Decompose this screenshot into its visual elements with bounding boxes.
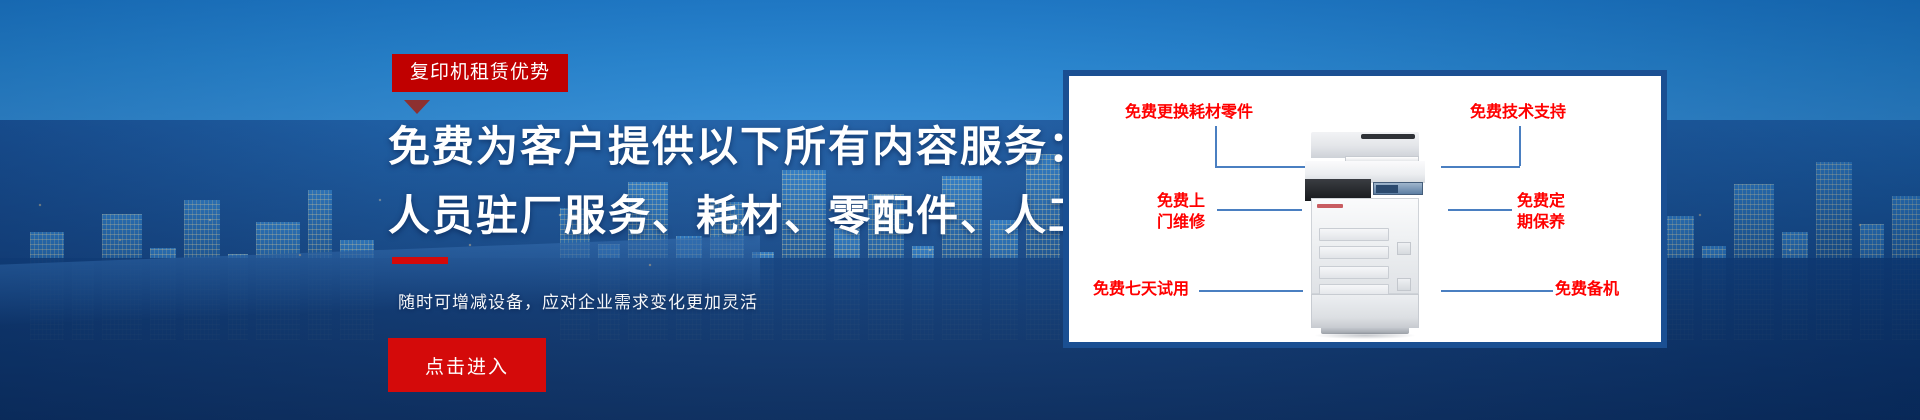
connector-line-top-right-vertical xyxy=(1519,126,1521,166)
enter-button[interactable]: 点击进入 xyxy=(388,338,546,392)
banner-subtitle: 随时可增减设备，应对企业需求变化更加灵活 xyxy=(398,288,758,313)
connector-line-top-left-vertical xyxy=(1215,126,1217,166)
connector-line-top-left-horizontal xyxy=(1215,166,1305,168)
connector-line-mid-right xyxy=(1448,209,1512,211)
advantage-tag-pointer-icon xyxy=(404,100,430,114)
copier-benefits-canvas: 免费更换耗材零件 免费技术支持 免费上 门维修 免费定 期保养 免费七天试用 免… xyxy=(1069,76,1661,342)
banner-copy-block: 复印机租赁优势 免费为客户提供以下所有内容服务： 人员驻厂服务、耗材、零配件、人… xyxy=(0,0,1060,420)
label-free-onsite-repair-line1: 免费上 xyxy=(1157,192,1205,212)
label-free-scheduled-maintenance-line1: 免费定 xyxy=(1517,192,1565,212)
copier-illustration-icon xyxy=(1305,132,1425,337)
advantage-tag-label: 复印机租赁优势 xyxy=(410,62,550,83)
copier-benefits-card: 免费更换耗材零件 免费技术支持 免费上 门维修 免费定 期保养 免费七天试用 免… xyxy=(1063,70,1667,348)
label-free-backup-machine: 免费备机 xyxy=(1555,280,1619,300)
label-free-onsite-repair-line2: 门维修 xyxy=(1157,213,1205,233)
label-free-scheduled-maintenance-line2: 期保养 xyxy=(1517,213,1565,233)
connector-line-top-right-horizontal xyxy=(1441,166,1520,168)
label-free-seven-day-trial: 免费七天试用 xyxy=(1093,280,1189,300)
connector-line-bottom-right xyxy=(1441,290,1553,292)
label-free-consumable-replacement: 免费更换耗材零件 xyxy=(1125,103,1253,123)
promo-banner: 复印机租赁优势 免费为客户提供以下所有内容服务： 人员驻厂服务、耗材、零配件、人… xyxy=(0,0,1920,420)
connector-line-mid-left xyxy=(1217,209,1302,211)
label-free-technical-support: 免费技术支持 xyxy=(1470,103,1566,123)
accent-rule xyxy=(392,257,448,264)
headline-line-1: 免费为客户提供以下所有内容服务： xyxy=(388,113,1092,174)
advantage-tag: 复印机租赁优势 xyxy=(392,54,568,92)
connector-line-bottom-left xyxy=(1199,290,1303,292)
headline-line-2: 人员驻厂服务、耗材、零配件、人工费 xyxy=(388,182,1136,243)
